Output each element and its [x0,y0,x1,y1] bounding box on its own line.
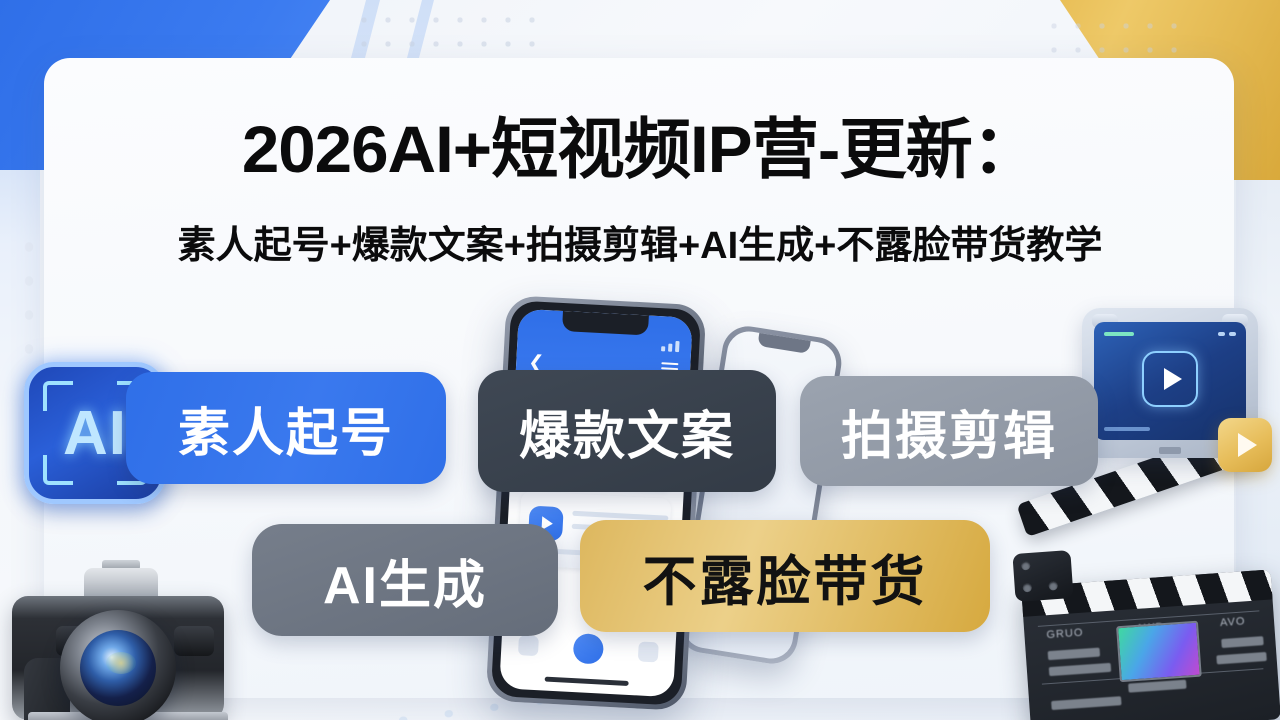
timecode-bar [1104,427,1150,431]
feature-chip-bu-lu-lian-dai-huo[interactable]: 不露脸带货 [580,520,990,632]
battery-icon [1218,332,1236,336]
lens-flare [106,652,136,674]
scan-corner-top-left [43,381,73,411]
camera-illustration [2,548,234,720]
phone-screen: ❮ [499,309,693,698]
feature-chip-ai-sheng-cheng[interactable]: AI生成 [252,524,558,636]
gold-play-badge [1218,418,1272,472]
camera-dial-right [174,626,214,656]
clapper-color-swatch [1116,621,1202,683]
tab-item [518,635,539,656]
feature-chip-bao-kuan-wen-an[interactable]: 爆款文案 [478,370,776,492]
signal-icon [661,340,680,352]
clapper-hinge [1012,550,1073,602]
clapper-label-roll: GRUO [1046,627,1084,642]
phone-mockup-front: ❮ [486,295,707,711]
phone-bezel: ❮ [491,300,701,705]
clapperboard-illustration: GRUO AWD AVO [1010,500,1278,720]
scan-corner-bottom-left [43,455,73,485]
camera-lens [60,610,176,720]
recording-indicator [1104,332,1134,336]
monitor-foot [1159,447,1181,454]
tab-item-primary [573,633,605,665]
play-icon [1142,351,1198,407]
camera-lens-glass [80,630,156,706]
feature-chip-su-ren-qi-hao[interactable]: 素人起号 [126,372,446,484]
page-subtitle: 素人起号+爆款文案+拍摄剪辑+AI生成+不露脸带货教学 [0,214,1280,269]
promo-poster: 2026AI+短视频IP营-更新： 素人起号+爆款文案+拍摄剪辑+AI生成+不露… [0,0,1280,720]
tab-item [637,641,658,662]
page-title: 2026AI+短视频IP营-更新： [0,96,1280,192]
clapper-label-scene: AVO [1220,615,1246,629]
home-indicator [545,677,629,686]
feature-chip-pai-she-jian-ji[interactable]: 拍摄剪辑 [800,376,1098,486]
